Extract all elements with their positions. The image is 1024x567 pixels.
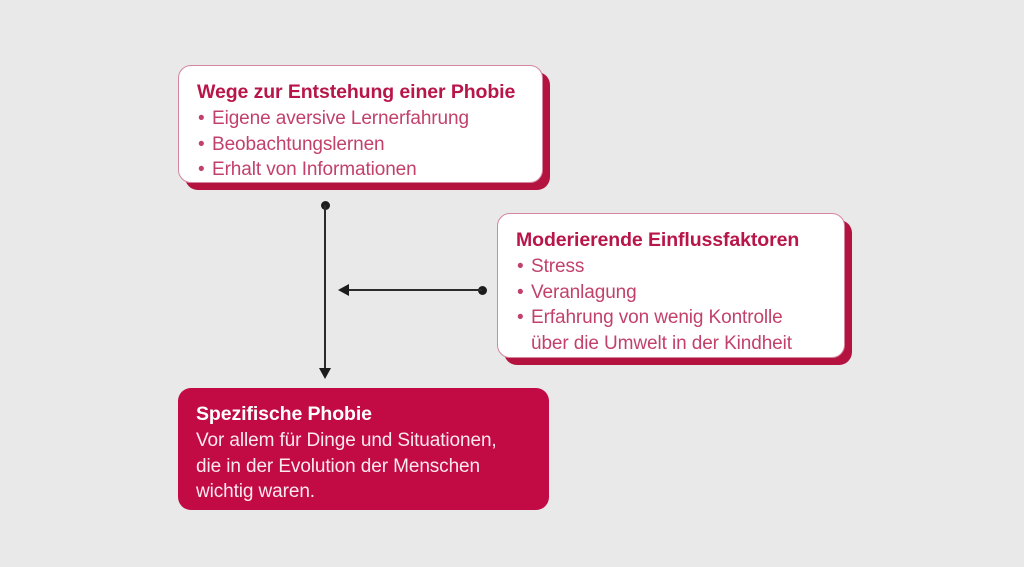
list-item-label: Eigene aversive Lernerfahrung (212, 106, 524, 132)
bullet-icon: • (517, 254, 524, 280)
card-causes-list: • Eigene aversive Lernerfahrung • Beobac… (197, 106, 524, 183)
bullet-icon: • (198, 106, 205, 132)
card-outcome-body: Vor allem für Dinge und Situationen, die… (196, 428, 531, 505)
card-outcome-face: Spezifische Phobie Vor allem für Dinge u… (178, 388, 549, 510)
list-item-label: Erfahrung von wenig Kontrolle über die U… (531, 305, 826, 356)
bullet-icon: • (198, 132, 205, 158)
bullet-icon: • (517, 280, 524, 306)
list-item: • Stress (516, 254, 826, 280)
bullet-icon: • (517, 305, 524, 331)
card-moderators-list: • Stress • Veranlagung • Erfahrung von w… (516, 254, 826, 356)
list-item-label: Veranlagung (531, 280, 826, 306)
card-causes: Wege zur Entstehung einer Phobie • Eigen… (178, 65, 543, 183)
card-moderators-title: Moderierende Einflussfaktoren (516, 228, 826, 253)
list-item: • Beobachtungslernen (197, 132, 524, 158)
connector-vertical-line (324, 205, 326, 370)
arrowhead-left-icon (338, 284, 349, 296)
card-moderators: Moderierende Einflussfaktoren • Stress •… (497, 213, 845, 358)
diagram-canvas: Wege zur Entstehung einer Phobie • Eigen… (0, 0, 1024, 567)
card-causes-face: Wege zur Entstehung einer Phobie • Eigen… (178, 65, 543, 183)
list-item-label: Beobachtungslernen (212, 132, 524, 158)
list-item: • Erhalt von Informationen (197, 157, 524, 183)
bullet-icon: • (198, 157, 205, 183)
list-item-label: Erhalt von Informationen (212, 157, 524, 183)
card-outcome: Spezifische Phobie Vor allem für Dinge u… (178, 388, 549, 510)
card-moderators-face: Moderierende Einflussfaktoren • Stress •… (497, 213, 845, 358)
connector-horizontal-line (348, 289, 482, 291)
list-item: • Veranlagung (516, 280, 826, 306)
list-item: • Erfahrung von wenig Kontrolle über die… (516, 305, 826, 356)
card-causes-title: Wege zur Entstehung einer Phobie (197, 80, 524, 105)
list-item-label: Stress (531, 254, 826, 280)
list-item: • Eigene aversive Lernerfahrung (197, 106, 524, 132)
arrowhead-down-icon (319, 368, 331, 379)
card-outcome-title: Spezifische Phobie (196, 402, 531, 427)
